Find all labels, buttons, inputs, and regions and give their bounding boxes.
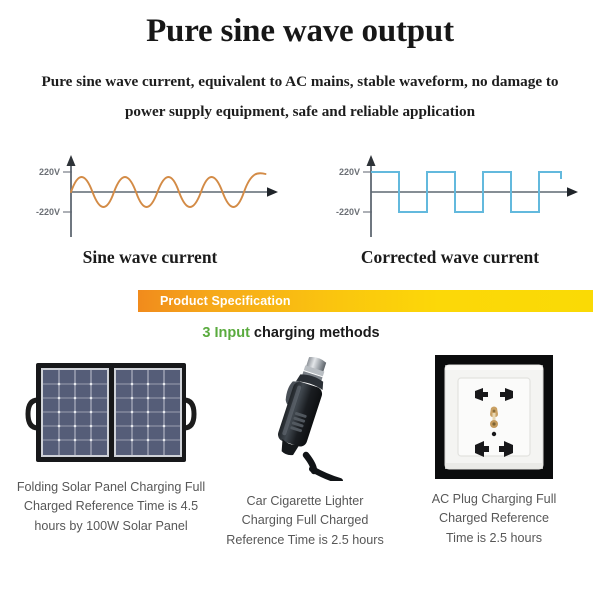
charging-methods-count: 3 Input — [202, 325, 250, 341]
product-specification-banner-wrap: Product Specification — [0, 290, 600, 312]
product-column-car-lighter: Car Cigarette Lighter Charging Full Char… — [222, 355, 388, 551]
product-column-solar-panel: Folding Solar Panel Charging Full Charge… — [0, 355, 222, 537]
charging-methods-heading: 3 Input charging methods — [0, 325, 600, 341]
corrected-bottom-voltage-label: -220V — [336, 207, 360, 217]
page-subtitle: Pure sine wave current, equivalent to AC… — [35, 67, 565, 126]
charging-methods-text: charging methods — [250, 325, 380, 341]
car-lighter-plug-image — [240, 351, 370, 481]
sine-wave-chart: 220V -220V — [14, 151, 286, 243]
product-column-ac-plug: AC Plug Charging Full Charged Reference … — [388, 355, 600, 549]
page-title: Pure sine wave output — [0, 13, 600, 49]
sine-top-voltage-label: 220V — [39, 167, 60, 177]
ac-plug-caption: AC Plug Charging Full Charged Reference … — [427, 490, 562, 549]
sine-wave-block: 220V -220V Sine wave current — [0, 151, 300, 268]
corrected-wave-chart: 220V -220V — [314, 151, 586, 243]
solar-panel-caption: Folding Solar Panel Charging Full Charge… — [13, 478, 209, 537]
sine-bottom-voltage-label: -220V — [36, 207, 60, 217]
corrected-wave-block: 220V -220V Corrected wave current — [300, 151, 600, 268]
waveform-comparison-row: 220V -220V Sine wave current 220V -220V — [0, 151, 600, 268]
corrected-top-voltage-label: 220V — [339, 167, 360, 177]
ac-wall-socket-image — [435, 355, 553, 479]
sine-wave-caption: Sine wave current — [83, 247, 218, 268]
product-specification-banner: Product Specification — [138, 290, 593, 312]
car-lighter-caption: Car Cigarette Lighter Charging Full Char… — [226, 492, 384, 551]
solar-panel-image — [16, 355, 206, 467]
charging-methods-row: Folding Solar Panel Charging Full Charge… — [0, 355, 600, 551]
product-specification-label: Product Specification — [138, 294, 291, 308]
corrected-wave-caption: Corrected wave current — [361, 247, 539, 268]
